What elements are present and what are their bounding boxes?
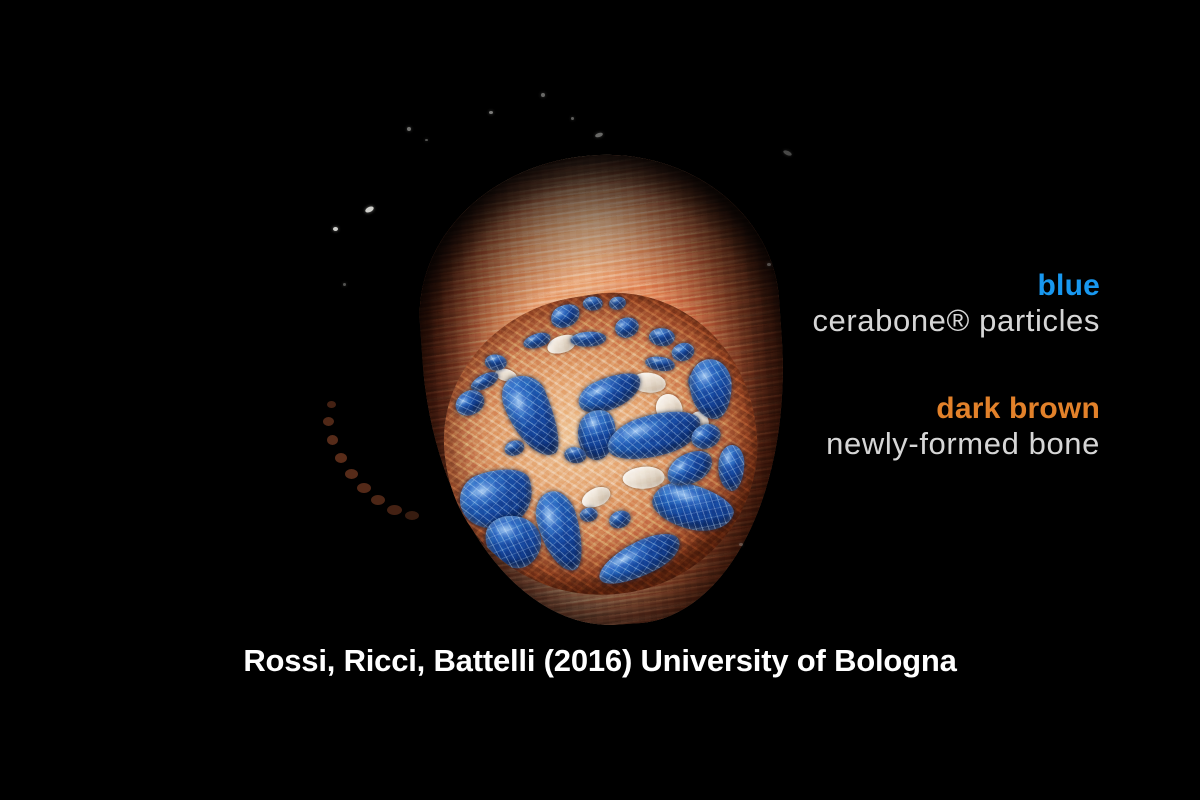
legend-key-blue: blue: [540, 270, 1100, 302]
legend-description-cerabone-particles: cerabone® particles: [540, 302, 1100, 340]
debris-arc-fragment: [323, 417, 334, 426]
debris-arc-fragment: [345, 469, 358, 479]
debris-speck: [343, 283, 346, 286]
caption-attribution: Rossi, Ricci, Battelli (2016) University…: [0, 643, 1200, 679]
debris-speck: [571, 117, 574, 120]
legend-description-newly-formed-bone: newly-formed bone: [540, 425, 1100, 463]
debris-speck: [595, 132, 604, 138]
legend: blue cerabone® particles dark brown newl…: [540, 270, 1100, 464]
debris-arc-fragment: [405, 511, 419, 520]
debris-arc-fragment: [327, 401, 336, 408]
figure-canvas: blue cerabone® particles dark brown newl…: [0, 0, 1200, 800]
debris-speck: [739, 543, 743, 546]
debris-arc-fragment: [387, 505, 402, 515]
debris-speck: [541, 93, 545, 97]
debris-speck: [783, 149, 793, 156]
debris-speck: [425, 139, 428, 141]
debris-speck: [407, 127, 411, 131]
debris-speck: [333, 227, 338, 231]
debris-arc-fragment: [335, 453, 347, 463]
debris-arc-fragment: [357, 483, 371, 493]
legend-item-dark-brown: dark brown newly-formed bone: [540, 393, 1100, 464]
debris-speck: [364, 205, 374, 213]
legend-item-blue: blue cerabone® particles: [540, 270, 1100, 341]
debris-speck: [489, 111, 493, 114]
debris-arc-fragment: [327, 435, 338, 445]
debris-speck: [767, 263, 771, 266]
legend-key-dark-brown: dark brown: [540, 393, 1100, 425]
debris-arc-fragment: [371, 495, 385, 505]
